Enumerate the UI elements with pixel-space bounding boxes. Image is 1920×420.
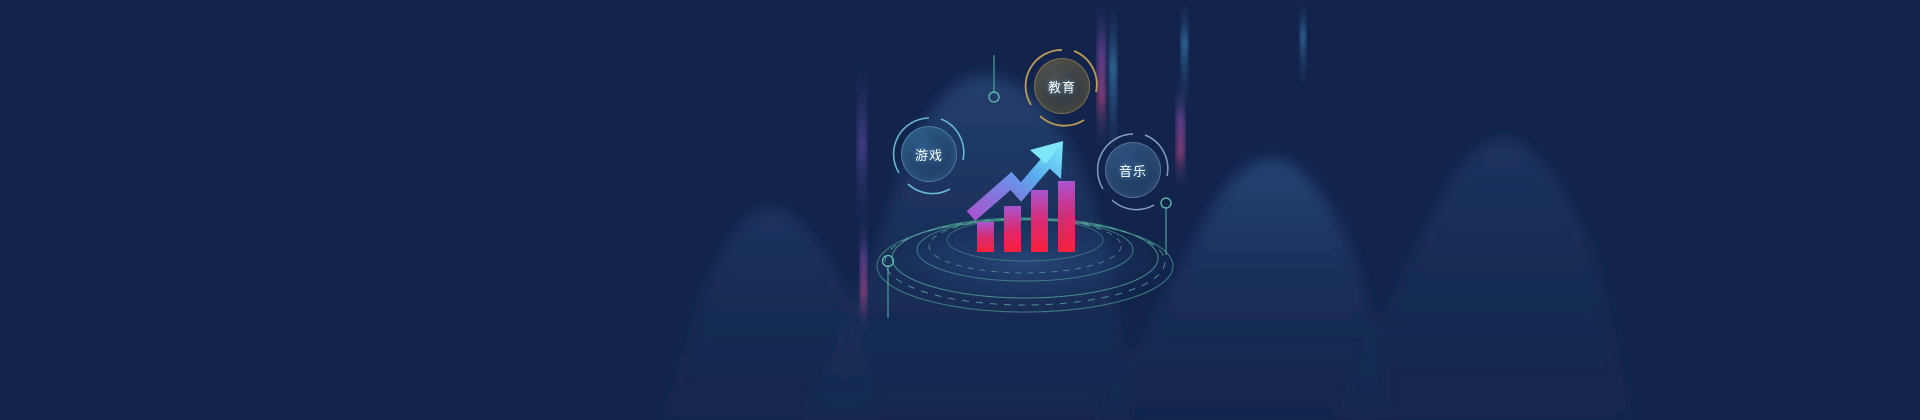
badge-games[interactable]: 游戏 bbox=[901, 126, 957, 182]
badge-education-label: 教育 bbox=[1048, 77, 1076, 96]
background-artwork bbox=[0, 0, 1920, 420]
badge-music-label: 音乐 bbox=[1119, 161, 1147, 180]
badge-education[interactable]: 教育 bbox=[1034, 58, 1090, 114]
badge-games-label: 游戏 bbox=[915, 145, 943, 164]
badge-music[interactable]: 音乐 bbox=[1105, 142, 1161, 198]
banner-root: 游戏 教育 音乐 bbox=[0, 0, 1920, 420]
